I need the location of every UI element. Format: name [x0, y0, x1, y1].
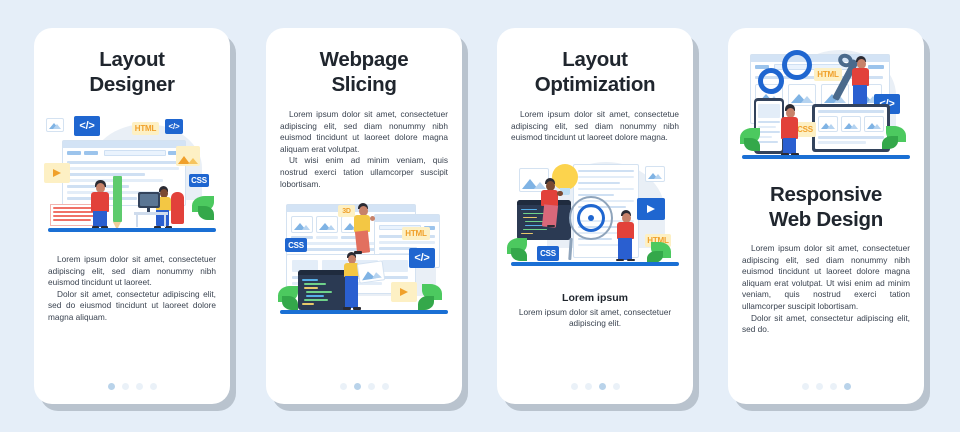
illustration-layout-designer: </> HTML </>	[34, 108, 202, 240]
card-title: Webpage Slicing	[280, 47, 448, 97]
plant-leaf	[198, 206, 214, 220]
pagination-dot[interactable]	[150, 383, 157, 390]
badge-yellow: 3D	[338, 205, 355, 217]
card-layout-designer[interactable]: Layout Designer	[34, 28, 230, 404]
card-body-text: Lorem ipsum dolor sit amet, consectetuer…	[48, 254, 216, 324]
pagination-dots[interactable]	[497, 383, 693, 390]
badge-html: HTML	[814, 68, 842, 81]
card-title-line-1: Layout	[48, 47, 216, 72]
paragraph: Dolor sit amet, consectetur adipiscing e…	[48, 289, 216, 324]
pagination-dot[interactable]	[599, 383, 606, 390]
paragraph: Dolor sit amet, consectetur adipiscing e…	[742, 313, 910, 336]
person-legs	[93, 211, 107, 227]
pagination-dot[interactable]	[368, 383, 375, 390]
pagination-dot[interactable]	[830, 383, 837, 390]
image-icon	[519, 168, 549, 192]
badge-code-icon: </>	[409, 248, 435, 268]
illustration-webpage-slicing: 3D HTML CSS </>	[266, 200, 434, 335]
paragraph: Lorem ipsum dolor sit amet, consectetuer…	[48, 254, 216, 289]
ground-bar	[280, 310, 448, 314]
card-title: Layout Optimization	[511, 47, 679, 97]
card-body-text: Lorem ipsum dolor sit amet, consectetue …	[511, 109, 679, 144]
ground-bar	[742, 155, 910, 159]
banner-stage: Layout Designer	[0, 0, 960, 432]
illustration-responsive-web-design: HTML </>	[728, 40, 896, 168]
card-title-line-2: Designer	[48, 72, 216, 97]
card-title-line-2: Web Design	[742, 207, 910, 232]
pagination-dot[interactable]	[382, 383, 389, 390]
image-icon	[46, 118, 64, 132]
pagination-dot[interactable]	[354, 383, 361, 390]
person-torso	[91, 192, 109, 212]
card-title-line-1: Webpage	[280, 47, 448, 72]
pagination-dot[interactable]	[816, 383, 823, 390]
card-title-line-2: Optimization	[511, 72, 679, 97]
ground-bar	[511, 262, 679, 266]
pagination-dot[interactable]	[122, 383, 129, 390]
card-subtitle: Lorem ipsum	[511, 292, 679, 304]
badge-code-icon-small: </>	[165, 119, 183, 134]
pagination-dot[interactable]	[136, 383, 143, 390]
pagination-dots[interactable]	[266, 383, 462, 390]
pagination-dot[interactable]	[585, 383, 592, 390]
gear-icon	[782, 50, 812, 80]
card-title-line-1: Layout	[511, 47, 679, 72]
badge-css: CSS	[189, 174, 209, 187]
pagination-dot[interactable]	[802, 383, 809, 390]
badge-css: CSS	[537, 246, 559, 261]
lightbulb-icon	[552, 164, 578, 190]
card-title-line-2: Slicing	[280, 72, 448, 97]
pagination-dot[interactable]	[108, 383, 115, 390]
ground-bar	[48, 228, 216, 232]
pagination-dot[interactable]	[340, 383, 347, 390]
badge-code-icon: </>	[74, 116, 100, 136]
paragraph: Lorem ipsum dolor sit amet, consectetuer…	[280, 109, 448, 155]
card-body-text: Lorem ipsum dolor sit amet, consectetuer…	[280, 109, 448, 190]
badge-css: CSS	[285, 238, 307, 252]
paragraph: Ut wisi enim ad minim veniam, quis nostr…	[280, 155, 448, 190]
card-subtext: Lorem ipsum dolor sit amet, consectetuer…	[511, 307, 679, 330]
card-body-text: Lorem ipsum dolor sit amet, consectetuer…	[742, 243, 910, 336]
pagination-dot[interactable]	[571, 383, 578, 390]
card-webpage-slicing[interactable]: Webpage Slicing Lorem ipsum dolor sit am…	[266, 28, 462, 404]
paragraph: Lorem ipsum dolor sit amet, consectetuer…	[742, 243, 910, 313]
paragraph: Lorem ipsum dolor sit amet, consectetue …	[511, 109, 679, 144]
gear-icon-small	[758, 68, 784, 94]
card-title-line-1: Responsive	[742, 182, 910, 207]
card-layout-optimization[interactable]: Layout Optimization Lorem ipsum dolor si…	[497, 28, 693, 404]
badge-html: HTML	[132, 122, 159, 135]
pagination-dot[interactable]	[613, 383, 620, 390]
illustration-layout-optimization: HTML CSS	[497, 158, 665, 280]
pagination-dots[interactable]	[728, 383, 924, 390]
pencil-icon	[113, 176, 122, 222]
chair	[171, 192, 184, 224]
image-icon-yellow	[176, 146, 200, 166]
pagination-dot[interactable]	[844, 383, 851, 390]
badge-html: HTML	[402, 227, 430, 240]
card-title: Responsive Web Design	[742, 182, 910, 232]
card-title: Layout Designer	[48, 47, 216, 97]
card-responsive-web-design[interactable]: HTML </>	[728, 28, 924, 404]
pagination-dots[interactable]	[34, 383, 230, 390]
